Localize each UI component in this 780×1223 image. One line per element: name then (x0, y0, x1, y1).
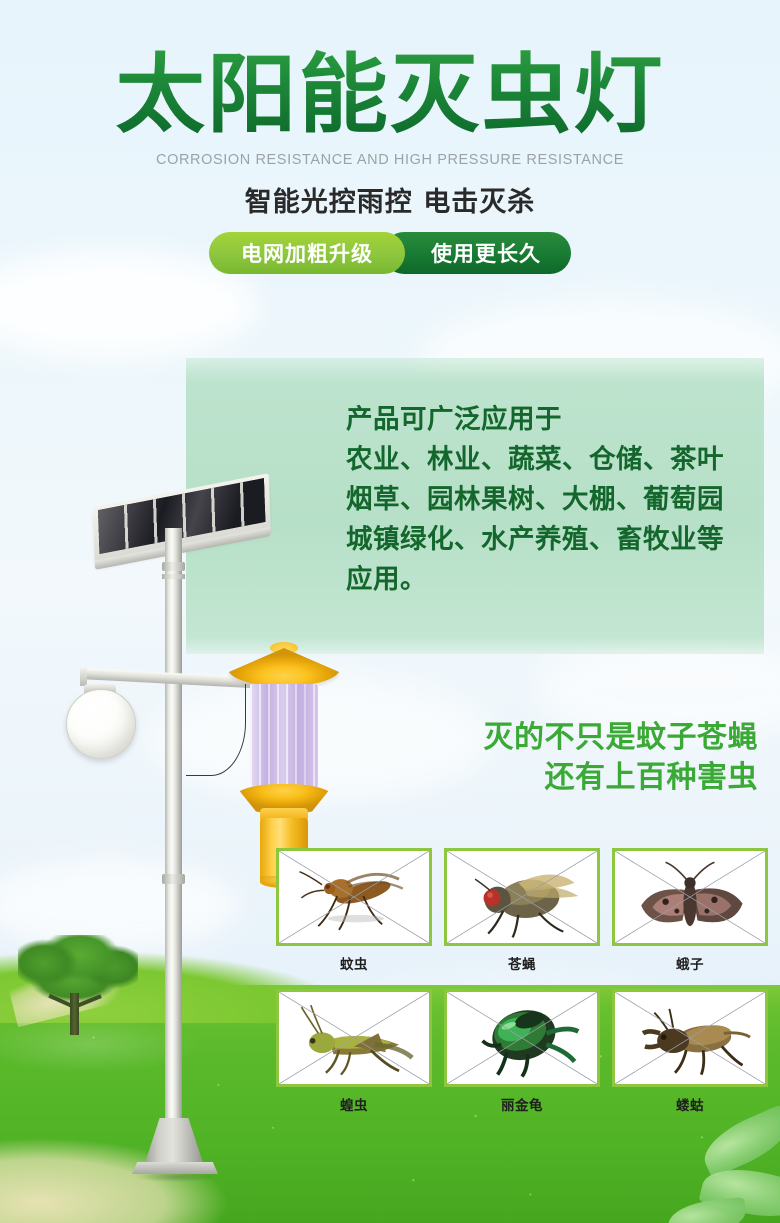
insect-label: 蛾子 (612, 953, 768, 973)
insect-label: 丽金龟 (444, 1094, 600, 1114)
insect-row-2: 蝗虫 (276, 989, 768, 1114)
leaf-decoration (696, 1104, 780, 1179)
subtitle-chinese: 智能光控雨控 电击灭杀 (0, 180, 780, 219)
feature-badge-group: 电网加粗升级 使用更长久 (0, 232, 780, 274)
housefly-icon (447, 851, 597, 943)
subtitle-english: CORROSION RESISTANCE AND HIGH PRESSURE R… (0, 152, 780, 168)
insect-gallery: 蚊虫 (276, 848, 768, 1114)
insect-photo-frame (612, 848, 768, 946)
insect-cell-locust: 蝗虫 (276, 989, 432, 1114)
application-line-4: 城镇绿化、水产养殖、畜牧业等 (346, 520, 756, 560)
base-plate (132, 1162, 218, 1174)
insect-cell-mole-cricket: 蝼蛄 (612, 989, 768, 1114)
insect-photo-frame (276, 848, 432, 946)
pole-joint (162, 574, 185, 579)
insect-label: 蝗虫 (276, 1094, 432, 1114)
insect-photo-frame (276, 989, 432, 1087)
application-line-2: 农业、林业、蔬菜、仓储、茶叶 (346, 440, 756, 480)
application-line-5: 应用。 (346, 560, 756, 600)
mole-cricket-icon (615, 992, 765, 1084)
insect-cell-moth: 蛾子 (612, 848, 768, 973)
insect-photo-frame (612, 989, 768, 1087)
application-text: 产品可广泛应用于 农业、林业、蔬菜、仓储、茶叶 烟草、园林果树、大棚、葡萄园 城… (346, 400, 756, 600)
badge-grid-upgrade: 电网加粗升级 (209, 232, 405, 274)
application-line-3: 烟草、园林果树、大棚、葡萄园 (346, 480, 756, 520)
leaf-decoration (666, 1197, 747, 1223)
insect-row-1: 蚊虫 (276, 848, 768, 973)
pole-band (162, 874, 185, 884)
insect-cell-mosquito: 蚊虫 (276, 848, 432, 973)
badge-longer-life: 使用更长久 (383, 232, 571, 274)
uv-tube-glare (250, 684, 318, 788)
pole-joint (162, 562, 185, 571)
product-poster: 太阳能灭虫灯 CORROSION RESISTANCE AND HIGH PRE… (0, 0, 780, 1223)
killer-lamp-hood (228, 648, 340, 686)
insect-cell-housefly: 苍蝇 (444, 848, 600, 973)
insect-label: 蚊虫 (276, 953, 432, 973)
application-line-1: 产品可广泛应用于 (346, 400, 756, 440)
insect-label: 苍蝇 (444, 953, 600, 973)
insect-cell-scarab: 丽金龟 (444, 989, 600, 1114)
moth-icon (615, 851, 765, 943)
insect-label: 蝼蛄 (612, 1094, 768, 1114)
insect-photo-frame (444, 989, 600, 1087)
mosquito-icon (279, 851, 429, 943)
lamp-pole (165, 528, 182, 1168)
insect-photo-frame (444, 848, 600, 946)
globe-street-lamp (66, 689, 136, 759)
locust-icon (279, 992, 429, 1084)
scarab-beetle-icon (447, 992, 597, 1084)
page-title: 太阳能灭虫灯 (0, 0, 780, 138)
concrete-base (144, 1118, 204, 1166)
poster-header: 太阳能灭虫灯 CORROSION RESISTANCE AND HIGH PRE… (0, 0, 780, 219)
